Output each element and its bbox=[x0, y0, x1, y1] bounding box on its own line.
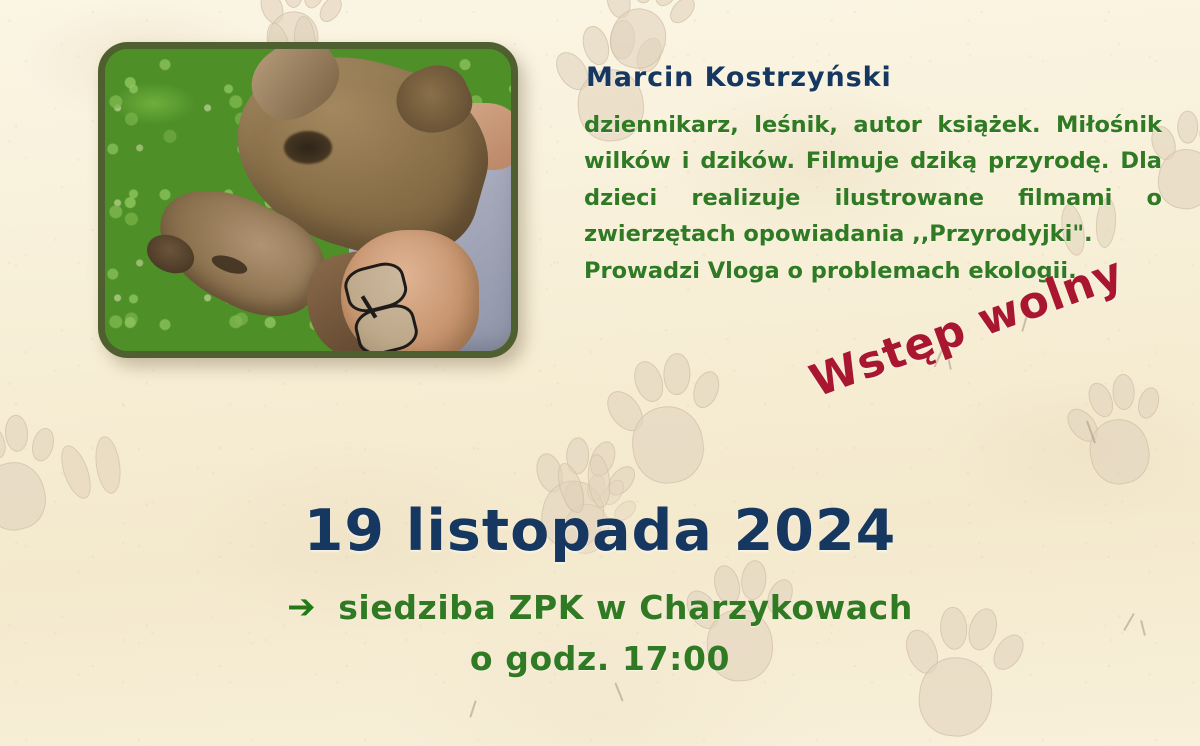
arrow-right-icon: ➔ bbox=[287, 590, 316, 624]
bio-line: dziennikarz, leśnik, autor książek. Miło… bbox=[584, 112, 1162, 138]
wild-boar-marking bbox=[284, 131, 333, 164]
bird-track-icon bbox=[469, 700, 476, 718]
bird-track-icon bbox=[614, 682, 623, 701]
event-details-block: 19 listopada 2024 ➔ siedziba ZPK w Charz… bbox=[0, 498, 1200, 678]
photo-image bbox=[105, 49, 511, 351]
poster-canvas: Marcin Kostrzyński dziennikarz, leśnik, … bbox=[0, 0, 1200, 746]
speaker-name: Marcin Kostrzyński bbox=[586, 62, 1162, 93]
hoof-mark-icon bbox=[55, 442, 97, 503]
speaker-photo bbox=[98, 42, 518, 358]
paw-print-icon bbox=[602, 342, 734, 492]
bio-line: wilków i dzików. Filmuje dziką przyrodę. bbox=[584, 148, 1109, 174]
event-time: o godz. 17:00 bbox=[0, 639, 1200, 678]
paw-print-icon bbox=[1061, 364, 1174, 493]
speaker-bio-block: Marcin Kostrzyński dziennikarz, leśnik, … bbox=[584, 62, 1162, 289]
hoof-mark-icon bbox=[92, 435, 124, 496]
event-place-row: ➔ siedziba ZPK w Charzykowach bbox=[0, 588, 1200, 627]
bird-track-icon bbox=[1086, 420, 1096, 443]
event-date: 19 listopada 2024 bbox=[0, 498, 1200, 564]
event-place: siedziba ZPK w Charzykowach bbox=[338, 588, 913, 627]
